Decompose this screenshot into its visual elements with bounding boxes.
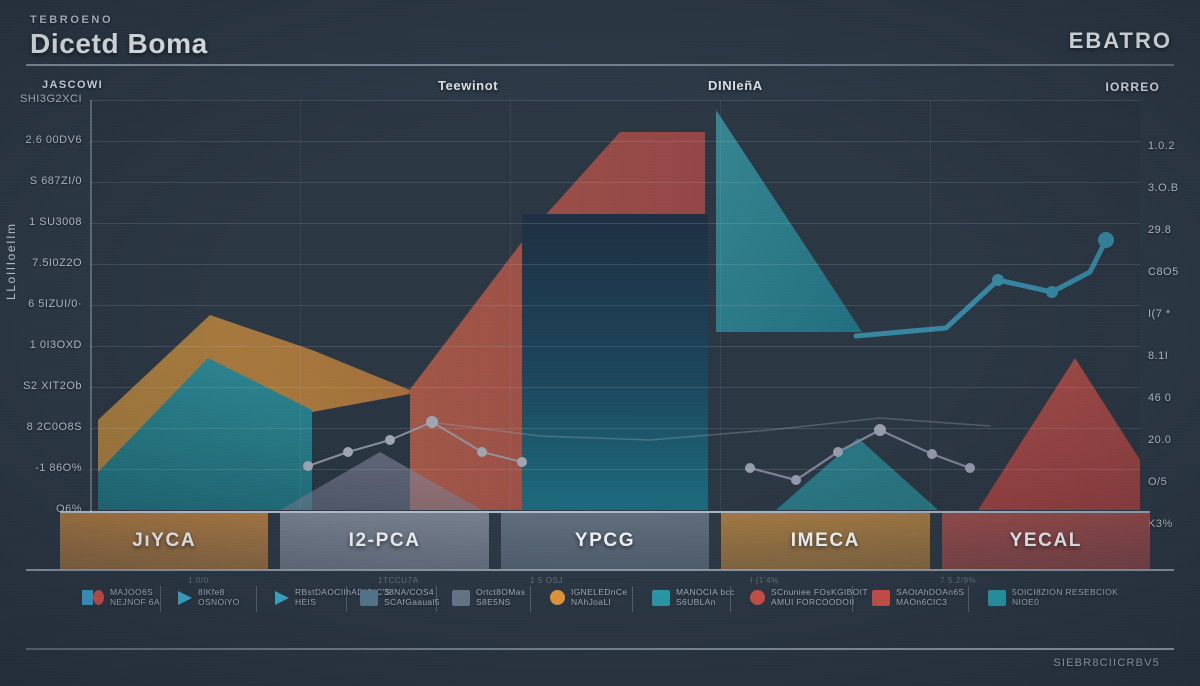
legend-item-text: IGNELEDnCeNAhJoaLI <box>571 588 627 608</box>
legend-line-2: NAhJoaLI <box>571 598 627 608</box>
legend-line-2: SCAfGaaual5 <box>384 598 440 608</box>
y-axis-right-tick-label: O/5 <box>1148 476 1167 488</box>
legend-swatch-square-icon <box>652 590 670 606</box>
legend-item-0[interactable]: MAJOO6SNEJNOF 6A <box>82 588 160 608</box>
y-axis-right-tick-label: 3.O.B <box>1148 182 1179 194</box>
subheader-right: IORREO <box>1105 80 1160 94</box>
y-axis-tick-label: SHI3G2XCI <box>20 93 82 105</box>
category-bar-divider <box>26 569 1174 571</box>
legend-separator <box>968 586 969 612</box>
y-axis-tick-label: S2 XIT2Ob <box>23 380 82 392</box>
legend-separator <box>632 586 633 612</box>
legend-item-text: Ortct8OMasS8E5NS <box>476 588 525 608</box>
legend-item-6[interactable]: MANOCIA bccS6UBLAn <box>652 588 735 608</box>
header-divider <box>26 64 1174 66</box>
header-corner-label: EBATRO <box>1069 28 1172 54</box>
y-axis-tick-label: 2.6 00DV6 <box>26 134 82 146</box>
header-kicker: TEBROENO <box>30 14 113 26</box>
legend-ghost-label: 1 5 OSJ <box>530 576 563 585</box>
y-axis-tick-label: 1 SU3008 <box>29 216 82 228</box>
legend-ghost-label: 7 5.2/9% <box>940 576 976 585</box>
legend-item-8[interactable]: SAOtAhDOAn6SMAOn6CIC3 <box>872 588 964 608</box>
y-axis-right-ticks: 1.0.23.O.B29.8C8O5I(7 *8.1I46 020.0O/5K3… <box>1142 100 1200 512</box>
legend-item-text: MANOCIA bccS6UBLAn <box>676 588 735 608</box>
legend-line-2: AMUI FORCOODOII <box>771 598 868 608</box>
legend-item-9[interactable]: 5OICI8ZION RESEBCIOKNIOE0 <box>988 588 1118 608</box>
y-axis-right-tick-label: 8.1I <box>1148 350 1168 362</box>
legend-separator <box>852 586 853 612</box>
legend-separator <box>530 586 531 612</box>
y-axis-tick-label: 6 5IZUI/0· <box>28 298 82 310</box>
column-separator <box>300 100 301 510</box>
gridline <box>90 100 1140 101</box>
gridline <box>90 469 1140 470</box>
category-label-4[interactable]: YECAL <box>942 513 1150 569</box>
legend-item-text: MAJOO6SNEJNOF 6A <box>110 588 160 608</box>
legend-separator <box>436 586 437 612</box>
legend-item-text: 8IKfe8OSNOiYO <box>198 588 240 608</box>
legend-line-2: S6UBLAn <box>676 598 735 608</box>
legend-swatch-circle-icon <box>550 590 565 605</box>
legend-ghost-label: 1.0/0 <box>188 576 209 585</box>
gridline <box>90 387 1140 388</box>
category-label-1[interactable]: I2-PCA <box>280 513 488 569</box>
legend-item-text: SCnuniee FOsKGIBOITAMUI FORCOODOII <box>771 588 868 608</box>
y-axis-tick-label: S 687ZI/0 <box>30 175 82 187</box>
category-label-0[interactable]: JıYCA <box>60 513 268 569</box>
legend-item-text: 5OICI8ZION RESEBCIOKNIOE0 <box>1012 588 1118 608</box>
gridline <box>90 223 1140 224</box>
legend-swatch-square-icon <box>988 590 1006 606</box>
gridlines <box>90 100 1140 510</box>
subheader-mid2: DINIeñA <box>708 78 763 93</box>
page-header: TEBROENO Dicetd Boma EBATRO <box>0 0 1200 70</box>
legend-swatch-square-icon <box>872 590 890 606</box>
legend-separator <box>730 586 731 612</box>
legend-swatch-pointer-icon <box>275 591 289 605</box>
category-label-bar[interactable]: JıYCAI2-PCAYPCGIMECAYECAL <box>60 513 1150 569</box>
y-axis-tick-label: 1 0I3OXD <box>30 339 82 351</box>
y-axis-right-tick-label: 20.0 <box>1148 434 1171 446</box>
subheader-left: JASCOWI <box>42 79 103 91</box>
category-label-3[interactable]: IMECA <box>721 513 929 569</box>
gridline <box>90 305 1140 306</box>
y-axis-right-tick-label: I(7 * <box>1148 308 1171 320</box>
y-axis-right-tick-label: 46 0 <box>1148 392 1171 404</box>
legend-item-text: SAOtAhDOAn6SMAOn6CIC3 <box>896 588 964 608</box>
legend-separator <box>346 586 347 612</box>
legend-item-text: 38NA/COS4SCAfGaaual5 <box>384 588 440 608</box>
gridline <box>90 141 1140 142</box>
legend-swatch-circle-icon <box>750 590 765 605</box>
gridline <box>90 182 1140 183</box>
gridline <box>90 264 1140 265</box>
legend-item-5[interactable]: IGNELEDnCeNAhJoaLI <box>550 588 627 608</box>
category-label-2[interactable]: YPCG <box>501 513 709 569</box>
legend-item-1[interactable]: 8IKfe8OSNOiYO <box>178 588 240 608</box>
y-axis-right-tick-label: 29.8 <box>1148 224 1171 236</box>
legend-line-2: OSNOiYO <box>198 598 240 608</box>
footer-divider <box>26 648 1174 650</box>
legend-line-2: MAOn6CIC3 <box>896 598 964 608</box>
y-axis-tick-label: -1 86O% <box>35 462 82 474</box>
gridline <box>90 428 1140 429</box>
chart-legend[interactable]: MAJOO6SNEJNOF 6A8IKfe8OSNOiYORBstDAOCIIh… <box>60 588 1170 632</box>
y-axis-right-tick-label: 1.0.2 <box>1148 140 1175 152</box>
legend-swatch-square-icon <box>452 590 470 606</box>
legend-line-2: NEJNOF 6A <box>110 598 160 608</box>
legend-swatch-pointer-icon <box>178 591 192 605</box>
y-axis-right-tick-label: K3% <box>1148 518 1173 530</box>
legend-ghost-label: 1TCCU7A <box>378 576 419 585</box>
y-axis-right-tick-label: C8O5 <box>1148 266 1179 278</box>
legend-item-3[interactable]: 38NA/COS4SCAfGaaual5 <box>360 588 440 608</box>
column-separator <box>720 100 721 510</box>
legend-separator <box>256 586 257 612</box>
legend-item-4[interactable]: Ortct8OMasS8E5NS <box>452 588 525 608</box>
legend-line-2: S8E5NS <box>476 598 525 608</box>
column-separator <box>930 100 931 510</box>
footer-text: SIEBR8CIICRBV5 <box>1053 657 1160 669</box>
legend-swatch-duo-icon <box>82 590 104 605</box>
legend-separator <box>160 586 161 612</box>
y-axis-tick-label: 7.5I0Z2O <box>32 257 82 269</box>
page-title: Dicetd Boma <box>30 28 208 60</box>
legend-swatch-square-icon <box>360 590 378 606</box>
gridline <box>90 346 1140 347</box>
column-separator <box>510 100 511 510</box>
legend-line-2: NIOE0 <box>1012 598 1118 608</box>
y-axis-tick-label: 8 2C0O8S <box>27 421 82 433</box>
legend-ghost-label: I (1'4% <box>750 576 779 585</box>
legend-item-7[interactable]: SCnuniee FOsKGIBOITAMUI FORCOODOII <box>750 588 868 608</box>
chart-plot-area[interactable] <box>90 100 1140 510</box>
y-axis-left-ticks: SHI3G2XCI2.6 00DV6S 687ZI/01 SU30087.5I0… <box>0 100 88 512</box>
subheader-mid: Teewinot <box>438 78 498 93</box>
